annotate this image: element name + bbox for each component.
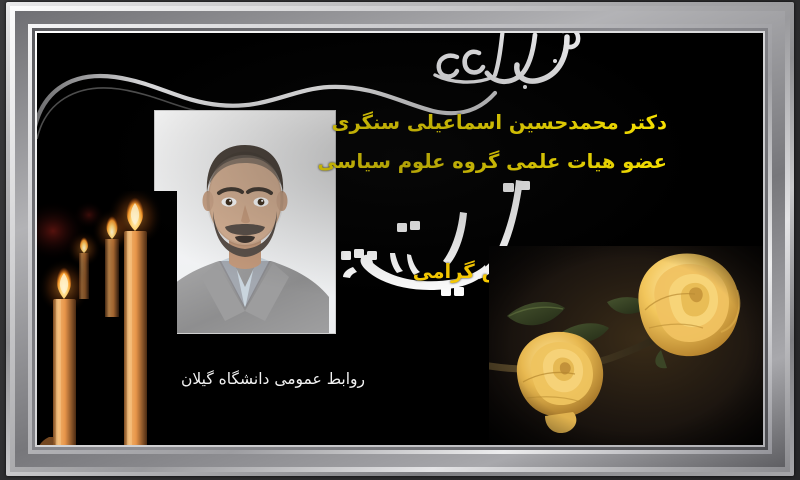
tasliat-calligraphy-icon	[337, 175, 567, 310]
frame-bevel-inner: دکتر محمدحسین اسماعیلی سنگری عضو هیات عل…	[28, 24, 772, 454]
deceased-role: عضو هیات علمی گروه علوم سیاسی	[318, 150, 667, 173]
frame-bevel-dark: دکتر محمدحسین اسماعیلی سنگری عضو هیات عل…	[32, 28, 768, 450]
portrait-photo	[155, 111, 335, 333]
portrait-illustration-icon	[155, 111, 335, 333]
memorial-poster: دکتر محمدحسین اسماعیلی سنگری عضو هیات عل…	[0, 0, 800, 480]
hu-al-baqi-calligraphy-icon	[417, 33, 592, 97]
organization-credit: روابط عمومی دانشگاه گیلان	[181, 370, 365, 388]
frame-bevel-outer: دکتر محمدحسین اسماعیلی سنگری عضو هیات عل…	[10, 6, 790, 472]
deceased-name: دکتر محمدحسین اسماعیلی سنگری	[332, 111, 667, 134]
frame-bevel-mid: دکتر محمدحسین اسماعیلی سنگری عضو هیات عل…	[15, 11, 785, 467]
poster-canvas: دکتر محمدحسین اسماعیلی سنگری عضو هیات عل…	[37, 33, 763, 445]
frame-inner-highlight: دکتر محمدحسین اسماعیلی سنگری عضو هیات عل…	[35, 31, 765, 447]
condolence-wish: روحش شاد و یادش گرامی	[413, 260, 667, 283]
picture-frame: دکتر محمدحسین اسماعیلی سنگری عضو هیات عل…	[6, 2, 794, 476]
